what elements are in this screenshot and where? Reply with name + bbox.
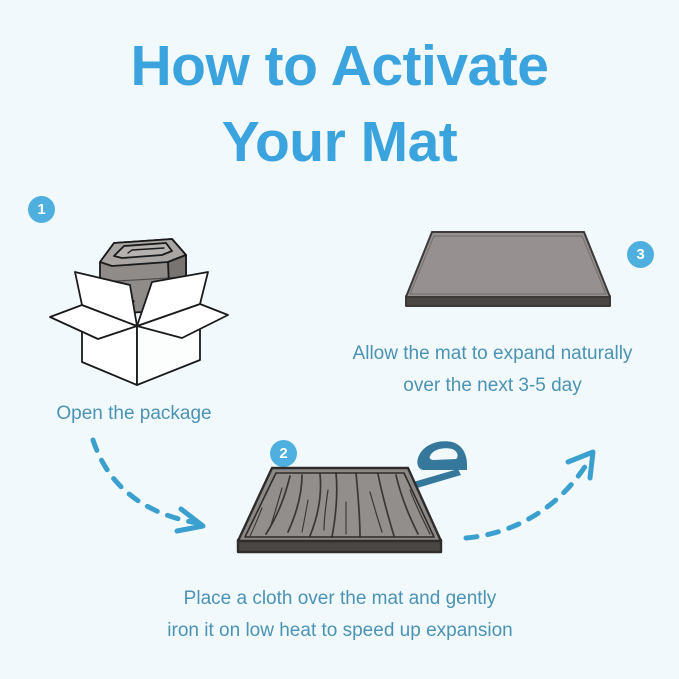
step-3-caption-line-1: Allow the mat to expand naturally [305, 338, 679, 370]
step-badge-1: 1 [28, 196, 55, 223]
open-package-illustration [42, 222, 232, 397]
title-line-1: How to Activate [0, 28, 679, 104]
infographic-canvas: How to Activate Your Mat 1 [0, 0, 679, 679]
dashed-arrow-step1-to-step2 [85, 435, 225, 545]
step-3-caption: Allow the mat to expand naturally over t… [305, 338, 679, 402]
step-2-caption-line-1: Place a cloth over the mat and gently [90, 583, 590, 615]
page-title: How to Activate Your Mat [0, 28, 679, 180]
step-3-caption-line-2: over the next 3-5 day [305, 370, 679, 402]
step-2-caption-line-2: iron it on low heat to speed up expansio… [90, 615, 590, 647]
step-badge-3: 3 [627, 241, 654, 268]
dashed-arrow-step2-to-step3 [460, 440, 610, 555]
step-1-caption-line-1: Open the package [0, 398, 268, 430]
expanded-mat-illustration [398, 218, 618, 333]
title-line-2: Your Mat [0, 104, 679, 180]
mat-with-cloth-illustration [232, 460, 447, 575]
step-2-caption: Place a cloth over the mat and gently ir… [90, 583, 590, 647]
step-1-caption: Open the package [0, 398, 268, 430]
